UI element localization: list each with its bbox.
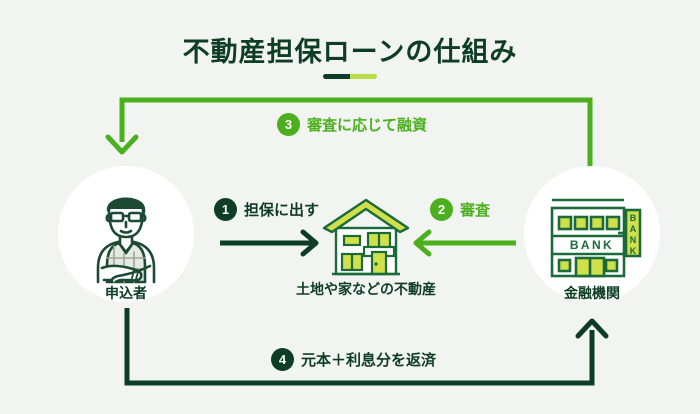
bank-vertical-sign-letter-n: N bbox=[630, 235, 637, 245]
bank-building-icon: BANK B A N K bbox=[540, 184, 644, 284]
arrow-step-1 bbox=[220, 232, 316, 254]
step-1-label: 担保に出す bbox=[244, 199, 319, 220]
person-with-glasses-arms-crossed-icon bbox=[78, 182, 174, 286]
bank-horizontal-sign-text: BANK bbox=[570, 238, 614, 252]
step-2-badge: 2 bbox=[430, 198, 453, 221]
step-3: 3 審査に応じて融資 bbox=[277, 113, 427, 136]
house-icon bbox=[320, 198, 412, 276]
node-property-caption: 土地や家などの不動産 bbox=[256, 279, 476, 299]
bank-vertical-sign-letter-b: B bbox=[630, 213, 637, 223]
bank-vertical-sign-letter-a: A bbox=[630, 224, 637, 234]
bank-vertical-sign-letter-k: K bbox=[630, 246, 637, 256]
step-4-label: 元本＋利息分を返済 bbox=[301, 349, 436, 370]
arrow-step-4 bbox=[127, 308, 606, 383]
step-2-label: 審査 bbox=[460, 199, 490, 220]
step-2: 2 審査 bbox=[430, 198, 490, 221]
step-3-label: 審査に応じて融資 bbox=[307, 114, 427, 135]
node-bank-label: 金融機関 bbox=[512, 283, 672, 303]
diagram-canvas: 不動産担保ローンの仕組み bbox=[0, 0, 700, 414]
node-property bbox=[320, 198, 412, 276]
node-applicant bbox=[58, 166, 194, 302]
arrow-step-2 bbox=[416, 232, 516, 254]
step-4: 4 元本＋利息分を返済 bbox=[271, 348, 436, 371]
step-4-badge: 4 bbox=[271, 348, 294, 371]
step-1: 1 担保に出す bbox=[214, 198, 319, 221]
node-bank: BANK B A N K bbox=[524, 166, 660, 302]
step-3-badge: 3 bbox=[277, 113, 300, 136]
step-1-badge: 1 bbox=[214, 198, 237, 221]
node-applicant-label: 申込者 bbox=[46, 283, 206, 303]
